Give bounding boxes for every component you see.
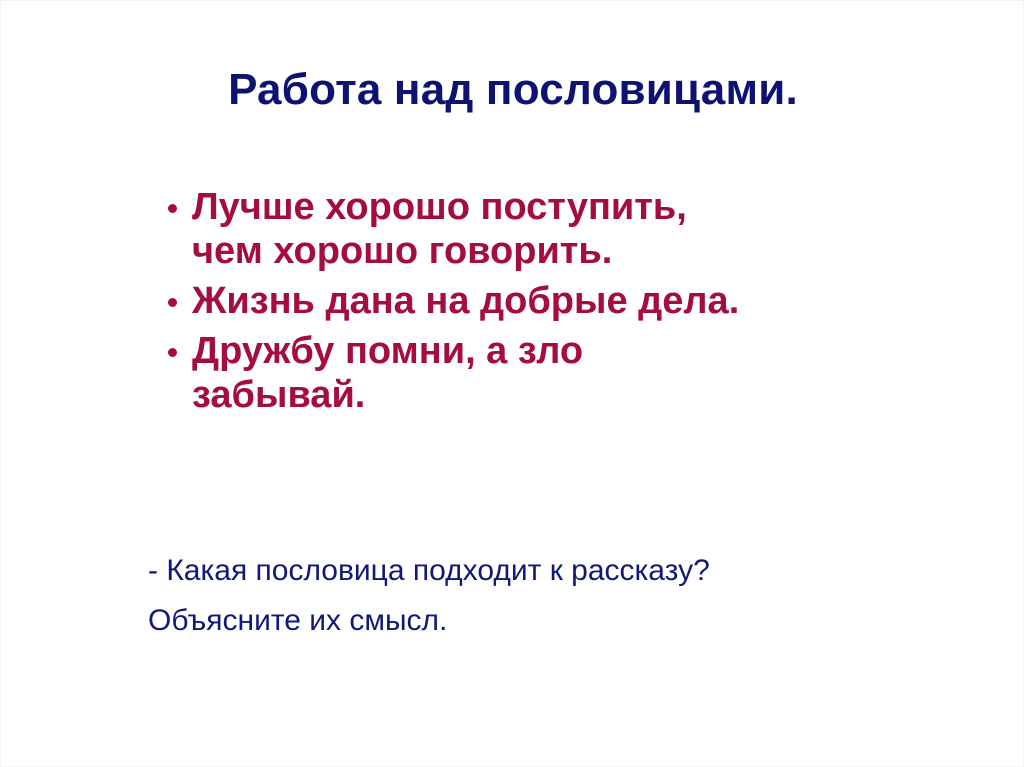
- slide-canvas: Работа над пословицами. Лучше хорошо пос…: [0, 0, 1024, 767]
- proverb-text: Жизнь дана на добрые дела.: [192, 279, 964, 323]
- proverb-text: Дружбу помни, а зло забывай.: [192, 329, 752, 417]
- bullet-dot-icon: [168, 204, 177, 213]
- question-line-1: - Какая пословица подходит к рассказу?: [148, 546, 978, 596]
- page-title: Работа над пословицами.: [1, 63, 1024, 117]
- proverb-list: Лучше хорошо поступить, чем хорошо говор…: [164, 185, 964, 423]
- bullet-dot-icon: [168, 348, 177, 357]
- proverb-text: Лучше хорошо поступить, чем хорошо говор…: [192, 185, 752, 273]
- question-block: - Какая пословица подходит к рассказу? О…: [148, 546, 978, 646]
- bullet-dot-icon: [168, 298, 177, 307]
- list-item: Жизнь дана на добрые дела.: [164, 279, 964, 323]
- list-item: Дружбу помни, а зло забывай.: [164, 329, 964, 417]
- list-item: Лучше хорошо поступить, чем хорошо говор…: [164, 185, 964, 273]
- question-line-2: Объясните их смысл.: [148, 596, 978, 646]
